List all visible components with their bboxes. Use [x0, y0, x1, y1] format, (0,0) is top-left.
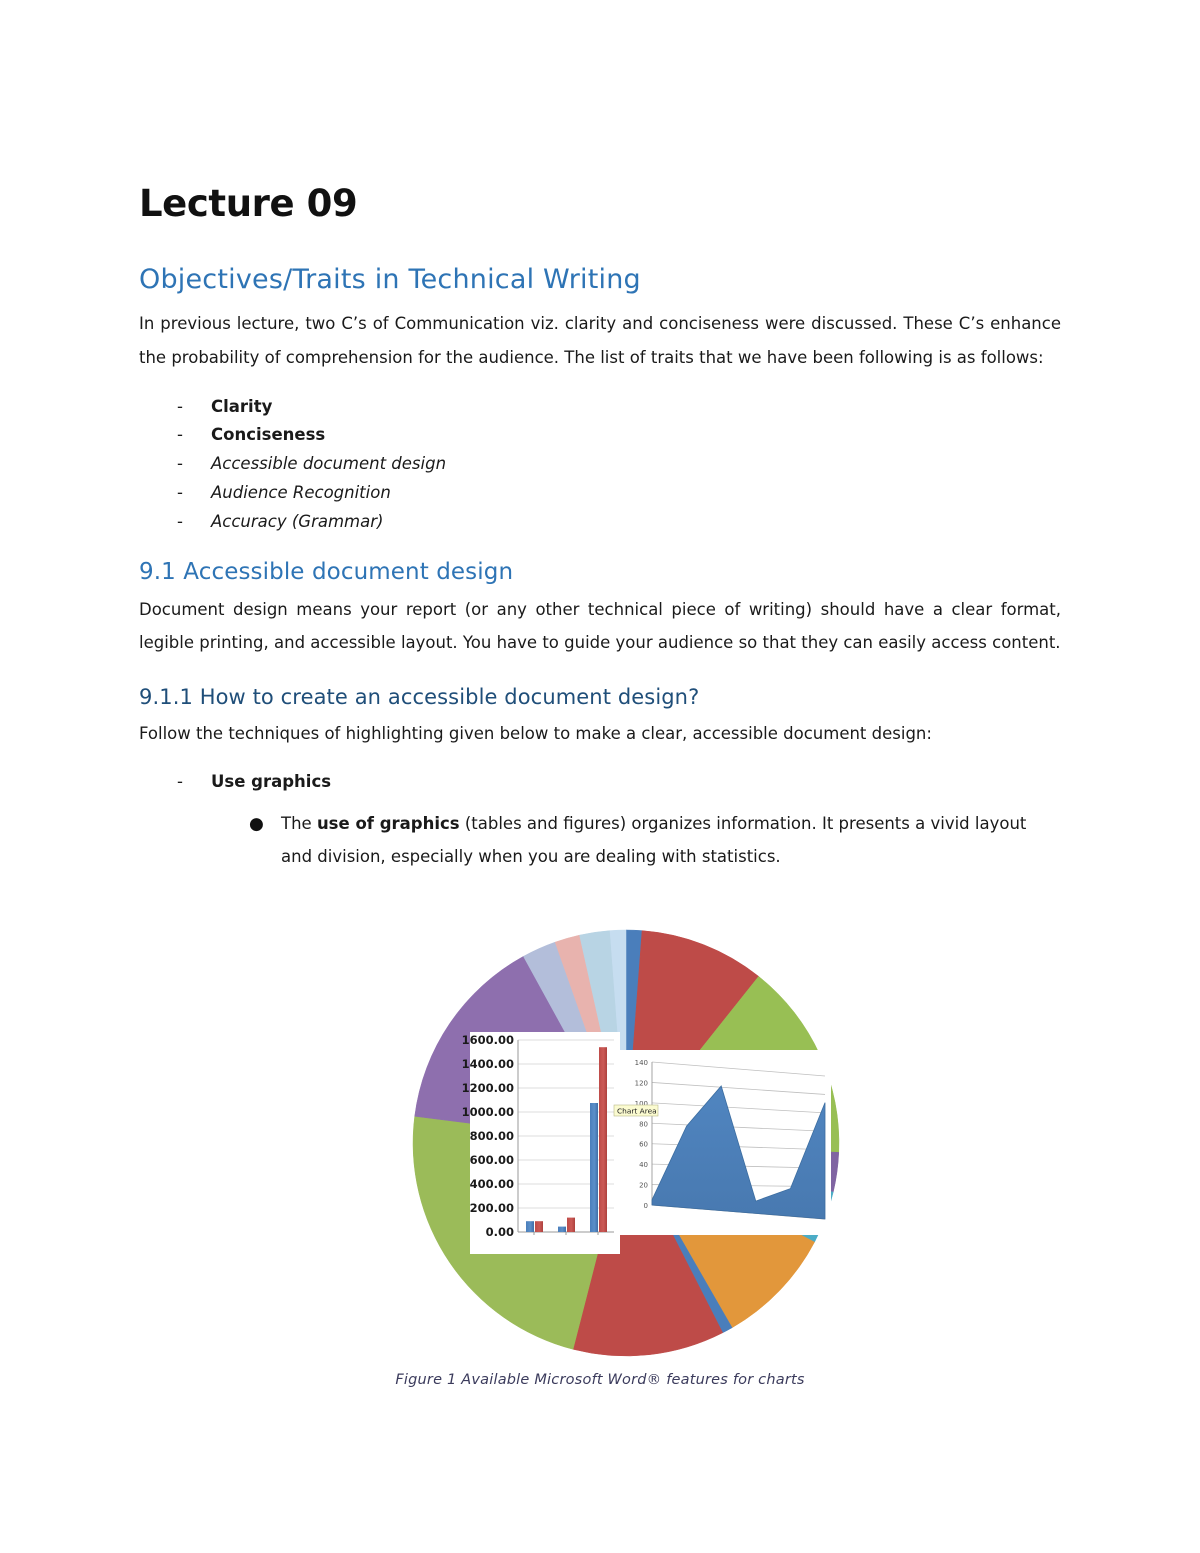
trait-label: Accuracy (Grammar): [211, 512, 383, 531]
trait-label: Audience Recognition: [211, 483, 391, 502]
bar-rect: [599, 1047, 607, 1232]
list-item: - Audience Recognition: [139, 479, 1061, 508]
bar-y-tick-label: 400.00: [470, 1177, 514, 1191]
list-item: - Conciseness: [139, 421, 1061, 450]
bar-y-tick-label: 1200.00: [462, 1081, 514, 1095]
list-item: ● The use of graphics (tables and figure…: [139, 807, 1061, 873]
dash-marker: -: [177, 421, 183, 450]
bar-y-tick-label: 1600.00: [462, 1033, 514, 1047]
bar-rect: [567, 1218, 575, 1232]
bar-rect: [535, 1221, 543, 1232]
area-y-tick-label: 140: [635, 1059, 648, 1067]
bar-rect: [526, 1221, 534, 1232]
traits-list: - Clarity - Conciseness - Accessible doc…: [139, 393, 1061, 537]
dash-marker: -: [177, 768, 183, 797]
graphics-sub-bullets: ● The use of graphics (tables and figure…: [139, 807, 1061, 873]
bar-rect: [558, 1227, 566, 1232]
trait-label: Accessible document design: [211, 454, 446, 473]
dash-marker: -: [177, 508, 183, 537]
bar-y-tick-label: 600.00: [470, 1153, 514, 1167]
list-item: - Accuracy (Grammar): [139, 508, 1061, 537]
area-y-tick-label: 60: [639, 1141, 648, 1149]
dash-marker: -: [177, 479, 183, 508]
area-y-tick-label: 20: [639, 1182, 648, 1190]
dash-marker: -: [177, 393, 183, 422]
figure-block: 0.00200.00400.00600.00800.001000.001200.…: [0, 922, 1200, 1388]
figure-caption: Figure 1 Available Microsoft Word® featu…: [0, 1372, 1200, 1388]
paragraph-9-1-1: Follow the techniques of highlighting gi…: [139, 717, 1061, 750]
document-page: Lecture 09 Objectives/Traits in Technica…: [0, 0, 1200, 1553]
paragraph-9-1: Document design means your report (or an…: [139, 593, 1061, 659]
figure-canvas: 0.00200.00400.00600.00800.001000.001200.…: [0, 922, 1200, 1362]
technique-label: Use graphics: [211, 772, 331, 791]
area-chart-panel: 020406080100120140Chart Area: [614, 1050, 831, 1235]
bar-y-tick-label: 0.00: [486, 1225, 514, 1239]
techniques-list: - Use graphics: [139, 768, 1061, 797]
bar-y-tick-label: 800.00: [470, 1129, 514, 1143]
dash-marker: -: [177, 450, 183, 479]
area-y-tick-label: 0: [644, 1202, 648, 1210]
sub-bullet-part1: The: [281, 814, 317, 833]
page-title: Lecture 09: [139, 185, 1061, 224]
charts-composite-graphic: 0.00200.00400.00600.00800.001000.001200.…: [0, 922, 1200, 1362]
bar-rect: [590, 1103, 598, 1232]
heading-objectives: Objectives/Traits in Technical Writing: [139, 264, 1061, 295]
paragraph-objectives: In previous lecture, two C’s of Communic…: [139, 307, 1061, 375]
area-y-tick-label: 120: [635, 1079, 648, 1087]
heading-9-1: 9.1 Accessible document design: [139, 559, 1061, 585]
bullet-marker: ●: [249, 807, 264, 841]
document-content: Lecture 09 Objectives/Traits in Technica…: [139, 185, 1061, 873]
bar-chart-panel: 0.00200.00400.00600.00800.001000.001200.…: [462, 1032, 620, 1254]
trait-label: Clarity: [211, 397, 272, 416]
trait-label: Conciseness: [211, 425, 325, 444]
list-item: - Clarity: [139, 393, 1061, 422]
bar-y-tick-label: 1400.00: [462, 1057, 514, 1071]
heading-9-1-1: 9.1.1 How to create an accessible docume…: [139, 685, 1061, 709]
sub-bullet-bold: use of graphics: [317, 814, 460, 833]
list-item: - Accessible document design: [139, 450, 1061, 479]
bar-y-tick-label: 1000.00: [462, 1105, 514, 1119]
area-y-tick-label: 80: [639, 1120, 648, 1128]
list-item: - Use graphics: [139, 768, 1061, 797]
bar-y-tick-label: 200.00: [470, 1201, 514, 1215]
area-y-tick-label: 40: [639, 1161, 648, 1169]
chart-area-tooltip-label: Chart Area: [617, 1106, 657, 1115]
